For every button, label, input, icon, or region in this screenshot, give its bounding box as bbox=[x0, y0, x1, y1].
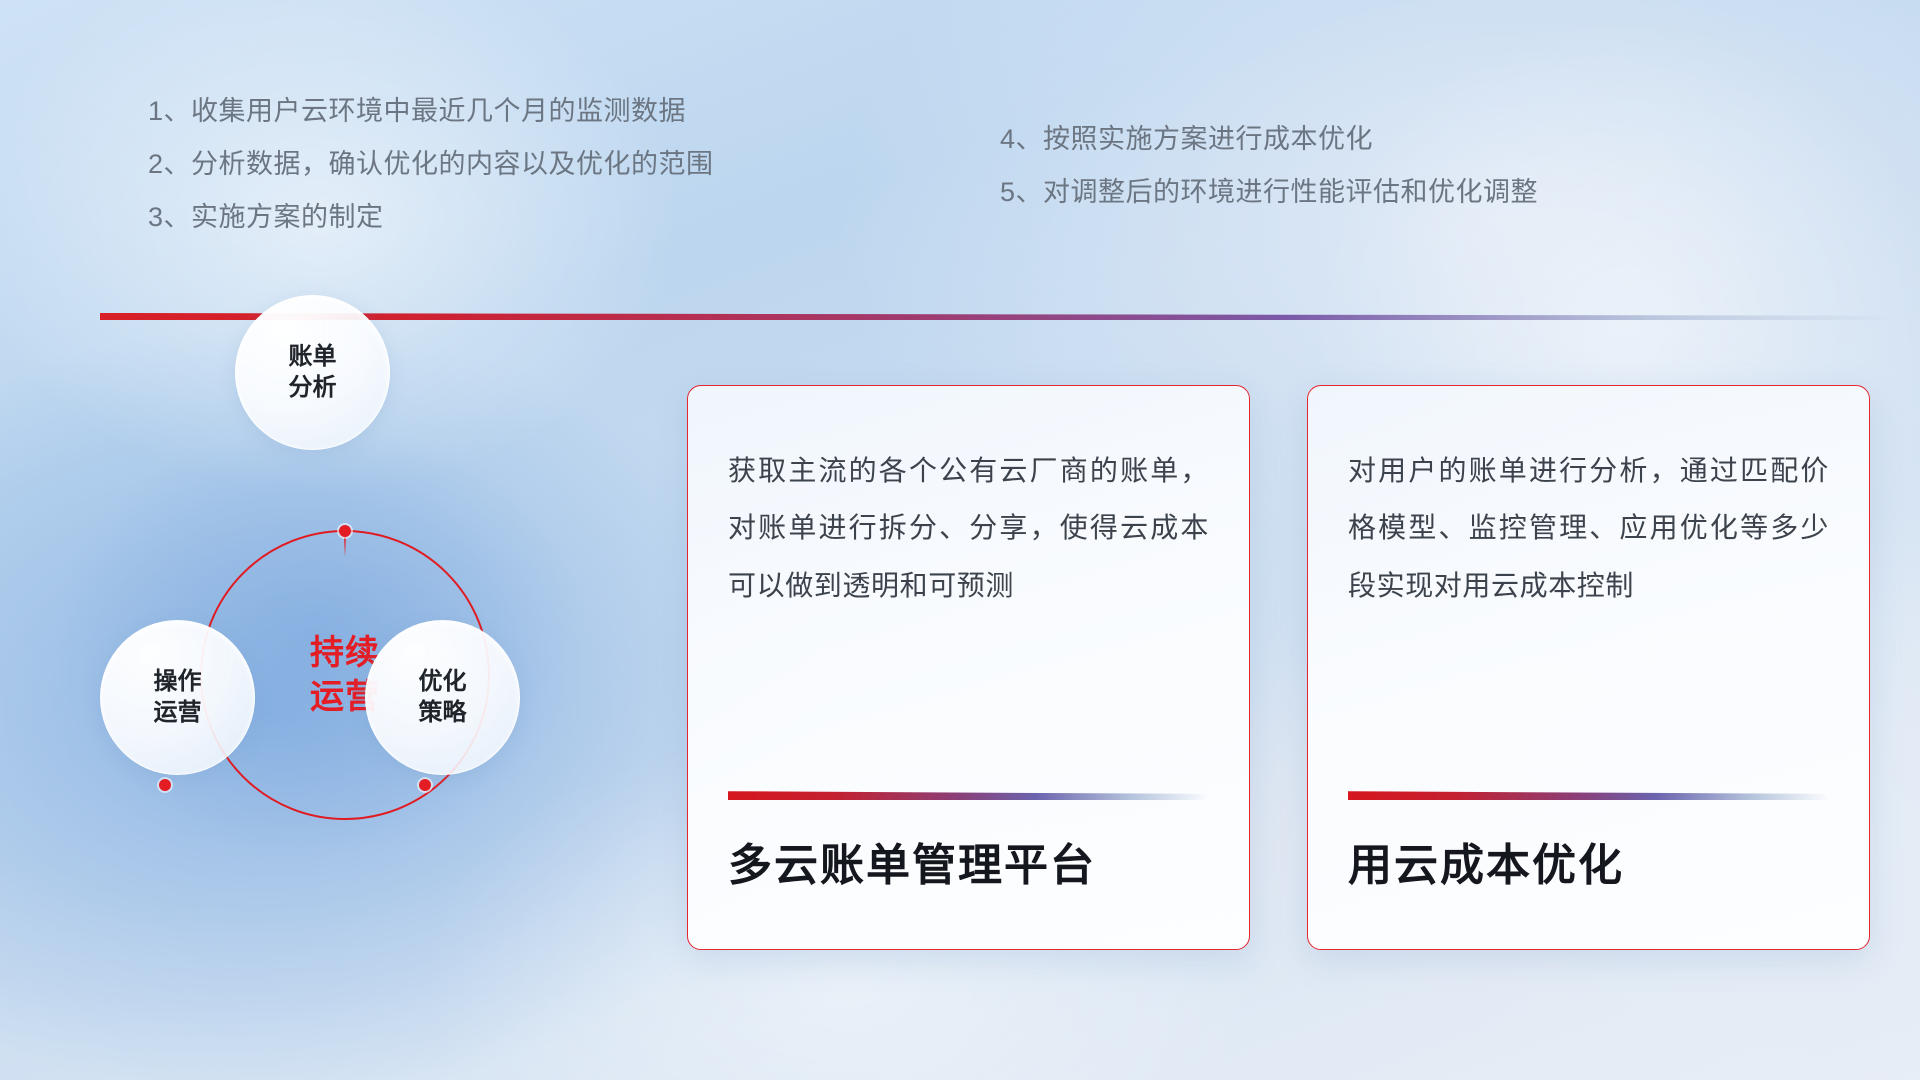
feature-card-cost-optimization[interactable]: 对用户的账单进行分析，通过匹配价格模型、监控管理、应用优化等多少段实现对用云成本… bbox=[1307, 385, 1870, 950]
connector-stem-top bbox=[344, 535, 346, 557]
process-step-list: 1、收集用户云环境中最近几个月的监测数据 2、分析数据，确认优化的内容以及优化的… bbox=[0, 0, 1920, 250]
feature-card-title: 多云账单管理平台 bbox=[728, 840, 1209, 893]
venn-bubble-label-line-1: 账单 bbox=[289, 342, 337, 373]
venn-bubble-label-line-1: 优化 bbox=[419, 667, 467, 698]
feature-card-title: 用云成本优化 bbox=[1348, 840, 1829, 893]
feature-card-content: 获取主流的各个公有云厂商的账单，对账单进行拆分、分享，使得云成本可以做到透明和可… bbox=[688, 386, 1249, 949]
process-step-column-left: 1、收集用户云环境中最近几个月的监测数据 2、分析数据，确认优化的内容以及优化的… bbox=[148, 98, 714, 231]
process-step-item: 5、对调整后的环境进行性能评估和优化调整 bbox=[1000, 179, 1538, 206]
feature-card-divider bbox=[728, 791, 1209, 800]
venn-bubble-label-line-2: 运营 bbox=[154, 698, 202, 729]
venn-bubble-operations[interactable]: 操作 运营 bbox=[100, 620, 255, 775]
process-step-item: 4、按照实施方案进行成本优化 bbox=[1000, 126, 1538, 153]
process-step-column-right: 4、按照实施方案进行成本优化 5、对调整后的环境进行性能评估和优化调整 bbox=[1000, 126, 1538, 206]
venn-bubble-label-line-2: 分析 bbox=[289, 373, 337, 404]
venn-bubble-bill-analysis[interactable]: 账单 分析 bbox=[235, 295, 390, 450]
feature-card-multicloud-billing[interactable]: 获取主流的各个公有云厂商的账单，对账单进行拆分、分享，使得云成本可以做到透明和可… bbox=[687, 385, 1250, 950]
feature-card-divider bbox=[1348, 791, 1829, 800]
venn-bubble-optimization-strategy[interactable]: 优化 策略 bbox=[365, 620, 520, 775]
feature-card-body: 获取主流的各个公有云厂商的账单，对账单进行拆分、分享，使得云成本可以做到透明和可… bbox=[728, 442, 1209, 614]
slide-canvas: 1、收集用户云环境中最近几个月的监测数据 2、分析数据，确认优化的内容以及优化的… bbox=[0, 0, 1920, 1080]
process-step-item: 1、收集用户云环境中最近几个月的监测数据 bbox=[148, 98, 714, 125]
connector-dot-bottom-left bbox=[159, 779, 171, 791]
feature-card-body: 对用户的账单进行分析，通过匹配价格模型、监控管理、应用优化等多少段实现对用云成本… bbox=[1348, 442, 1829, 614]
connector-dot-bottom-right bbox=[419, 779, 431, 791]
venn-bubble-label-line-1: 操作 bbox=[154, 667, 202, 698]
venn-diagram: 持续 运营 账单 分析 操作 运营 优化 策略 bbox=[90, 355, 560, 935]
process-step-item: 3、实施方案的制定 bbox=[148, 204, 714, 231]
process-step-item: 2、分析数据，确认优化的内容以及优化的范围 bbox=[148, 151, 714, 178]
connector-dot-top bbox=[339, 525, 351, 537]
venn-bubble-label-line-2: 策略 bbox=[419, 698, 467, 729]
feature-card-content: 对用户的账单进行分析，通过匹配价格模型、监控管理、应用优化等多少段实现对用云成本… bbox=[1308, 386, 1869, 949]
